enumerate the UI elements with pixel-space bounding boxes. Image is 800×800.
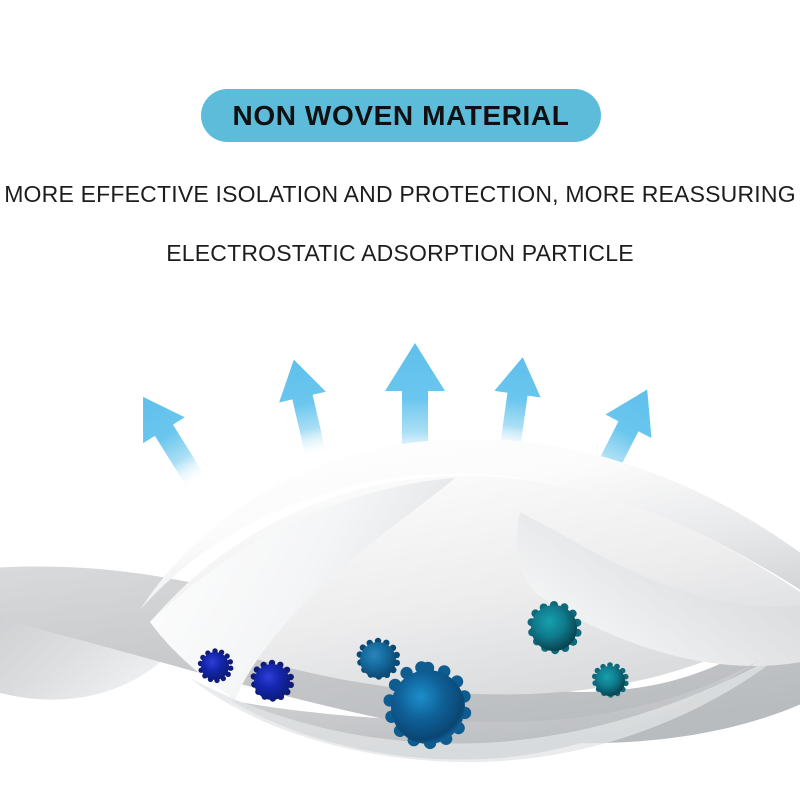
headline-badge: NON WOVEN MATERIAL xyxy=(201,89,601,142)
promo-graphic-page: NON WOVEN MATERIAL MORE EFFECTIVE ISOLAT… xyxy=(0,0,800,800)
headline-badge-label: NON WOVEN MATERIAL xyxy=(233,100,570,132)
subheading-line-1: MORE EFFECTIVE ISOLATION AND PROTECTION,… xyxy=(0,181,800,208)
airflow-arrow-1 xyxy=(122,384,218,496)
airflow-arrow-2 xyxy=(270,354,339,461)
subheading-line-2: ELECTROSTATIC ADSORPTION PARTICLE xyxy=(0,240,800,267)
